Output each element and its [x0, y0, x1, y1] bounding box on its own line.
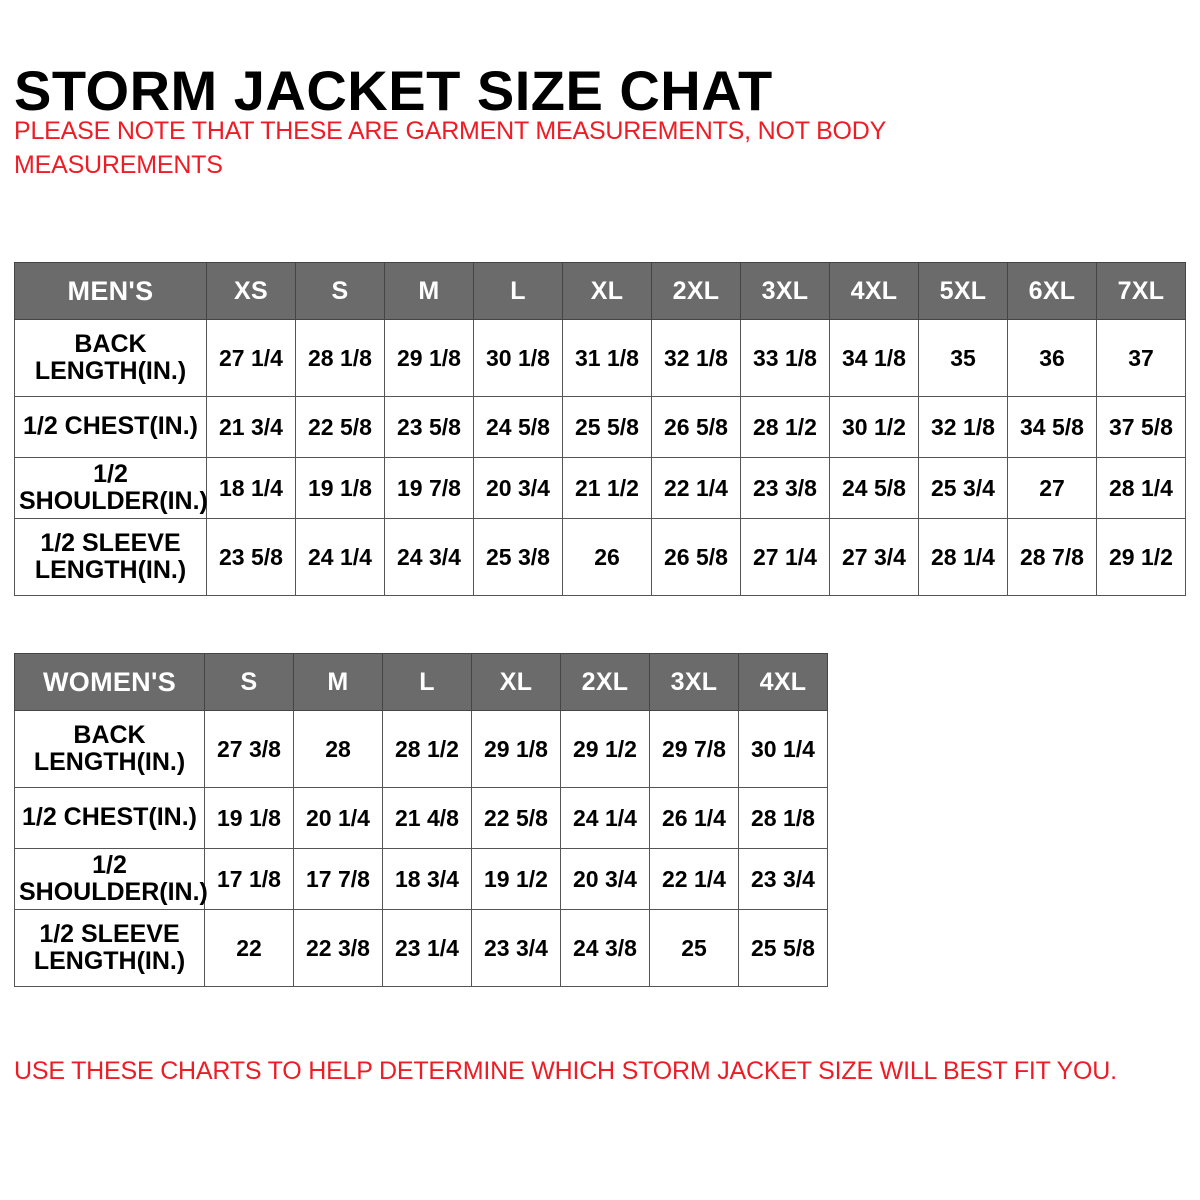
womens-back-length-3xl: 29 7/8 — [650, 711, 739, 788]
mens-col-header-m: M — [385, 263, 474, 320]
womens-shoulder-m: 17 7/8 — [294, 849, 383, 910]
mens-sleeve-line1: 1/2 SLEEVE — [19, 530, 202, 558]
womens-col-header-3xl: 3XL — [650, 654, 739, 711]
womens-table-body: BACK LENGTH(IN.) 27 3/8 28 28 1/2 29 1/8… — [15, 711, 828, 987]
womens-chest-4xl: 28 1/8 — [739, 788, 828, 849]
mens-shoulder-l: 20 3/4 — [474, 458, 563, 519]
mens-shoulder-xs: 18 1/4 — [207, 458, 296, 519]
mens-chest-3xl: 28 1/2 — [741, 397, 830, 458]
mens-sleeve-4xl: 27 3/4 — [830, 519, 919, 596]
mens-shoulder-m: 19 7/8 — [385, 458, 474, 519]
womens-col-header-s: S — [205, 654, 294, 711]
use-charts-note: USE THESE CHARTS TO HELP DETERMINE WHICH… — [14, 1055, 1154, 1088]
womens-row-label-shoulder: 1/2 SHOULDER(IN.) — [15, 849, 205, 910]
mens-back-length-line2: LENGTH(IN.) — [19, 358, 202, 386]
table-row: 1/2 SHOULDER(IN.) 18 1/4 19 1/8 19 7/8 2… — [15, 458, 1186, 519]
womens-row-label-chest: 1/2 CHEST(IN.) — [15, 788, 205, 849]
womens-sleeve-s: 22 — [205, 910, 294, 987]
womens-shoulder-s: 17 1/8 — [205, 849, 294, 910]
mens-row-label-back-length: BACK LENGTH(IN.) — [15, 320, 207, 397]
mens-sleeve-m: 24 3/4 — [385, 519, 474, 596]
womens-table-head: WOMEN'S S M L XL 2XL 3XL 4XL — [15, 654, 828, 711]
mens-back-length-s: 28 1/8 — [296, 320, 385, 397]
mens-size-table: MEN'S XS S M L XL 2XL 3XL 4XL 5XL 6XL 7X… — [14, 262, 1186, 596]
mens-row-label-shoulder: 1/2 SHOULDER(IN.) — [15, 458, 207, 519]
mens-back-length-6xl: 36 — [1008, 320, 1097, 397]
mens-table-head: MEN'S XS S M L XL 2XL 3XL 4XL 5XL 6XL 7X… — [15, 263, 1186, 320]
mens-back-length-line1: BACK — [19, 331, 202, 359]
mens-col-header-3xl: 3XL — [741, 263, 830, 320]
mens-back-length-5xl: 35 — [919, 320, 1008, 397]
mens-chest-4xl: 30 1/2 — [830, 397, 919, 458]
womens-corner-header: WOMEN'S — [15, 654, 205, 711]
mens-back-length-xl: 31 1/8 — [563, 320, 652, 397]
mens-shoulder-s: 19 1/8 — [296, 458, 385, 519]
mens-sleeve-l: 25 3/8 — [474, 519, 563, 596]
womens-col-header-xl: XL — [472, 654, 561, 711]
womens-sleeve-3xl: 25 — [650, 910, 739, 987]
mens-row-label-sleeve: 1/2 SLEEVE LENGTH(IN.) — [15, 519, 207, 596]
womens-chest-2xl: 24 1/4 — [561, 788, 650, 849]
mens-sleeve-xs: 23 5/8 — [207, 519, 296, 596]
womens-sleeve-4xl: 25 5/8 — [739, 910, 828, 987]
mens-shoulder-2xl: 22 1/4 — [652, 458, 741, 519]
mens-col-header-s: S — [296, 263, 385, 320]
mens-chest-s: 22 5/8 — [296, 397, 385, 458]
womens-row-label-back-length: BACK LENGTH(IN.) — [15, 711, 205, 788]
mens-back-length-l: 30 1/8 — [474, 320, 563, 397]
womens-shoulder-3xl: 22 1/4 — [650, 849, 739, 910]
womens-sleeve-m: 22 3/8 — [294, 910, 383, 987]
womens-back-length-s: 27 3/8 — [205, 711, 294, 788]
mens-sleeve-6xl: 28 7/8 — [1008, 519, 1097, 596]
table-row: 1/2 SHOULDER(IN.) 17 1/8 17 7/8 18 3/4 1… — [15, 849, 828, 910]
mens-sleeve-s: 24 1/4 — [296, 519, 385, 596]
womens-shoulder-l: 18 3/4 — [383, 849, 472, 910]
mens-chest-m: 23 5/8 — [385, 397, 474, 458]
womens-size-table: WOMEN'S S M L XL 2XL 3XL 4XL BACK LENGTH… — [14, 653, 828, 987]
mens-chest-l: 24 5/8 — [474, 397, 563, 458]
mens-sleeve-line2: LENGTH(IN.) — [19, 557, 202, 585]
womens-sleeve-line2: LENGTH(IN.) — [19, 948, 200, 976]
womens-shoulder-4xl: 23 3/4 — [739, 849, 828, 910]
womens-col-header-m: M — [294, 654, 383, 711]
mens-col-header-5xl: 5XL — [919, 263, 1008, 320]
mens-sleeve-5xl: 28 1/4 — [919, 519, 1008, 596]
womens-sleeve-line1: 1/2 SLEEVE — [19, 921, 200, 949]
womens-chest-l: 21 4/8 — [383, 788, 472, 849]
womens-col-header-4xl: 4XL — [739, 654, 828, 711]
womens-row-label-sleeve: 1/2 SLEEVE LENGTH(IN.) — [15, 910, 205, 987]
mens-header-row: MEN'S XS S M L XL 2XL 3XL 4XL 5XL 6XL 7X… — [15, 263, 1186, 320]
womens-back-length-2xl: 29 1/2 — [561, 711, 650, 788]
womens-col-header-l: L — [383, 654, 472, 711]
table-row: BACK LENGTH(IN.) 27 3/8 28 28 1/2 29 1/8… — [15, 711, 828, 788]
mens-chest-2xl: 26 5/8 — [652, 397, 741, 458]
mens-back-length-xs: 27 1/4 — [207, 320, 296, 397]
womens-sleeve-xl: 23 3/4 — [472, 910, 561, 987]
mens-back-length-4xl: 34 1/8 — [830, 320, 919, 397]
mens-col-header-7xl: 7XL — [1097, 263, 1186, 320]
mens-shoulder-xl: 21 1/2 — [563, 458, 652, 519]
mens-corner-header: MEN'S — [15, 263, 207, 320]
mens-shoulder-4xl: 24 5/8 — [830, 458, 919, 519]
womens-back-length-4xl: 30 1/4 — [739, 711, 828, 788]
mens-shoulder-3xl: 23 3/8 — [741, 458, 830, 519]
mens-back-length-2xl: 32 1/8 — [652, 320, 741, 397]
mens-col-header-6xl: 6XL — [1008, 263, 1097, 320]
garment-measurement-note: PLEASE NOTE THAT THESE ARE GARMENT MEASU… — [14, 115, 1014, 183]
mens-table-body: BACK LENGTH(IN.) 27 1/4 28 1/8 29 1/8 30… — [15, 320, 1186, 596]
mens-chest-7xl: 37 5/8 — [1097, 397, 1186, 458]
mens-col-header-xs: XS — [207, 263, 296, 320]
womens-chest-3xl: 26 1/4 — [650, 788, 739, 849]
mens-col-header-l: L — [474, 263, 563, 320]
mens-shoulder-7xl: 28 1/4 — [1097, 458, 1186, 519]
womens-shoulder-2xl: 20 3/4 — [561, 849, 650, 910]
womens-chest-m: 20 1/4 — [294, 788, 383, 849]
mens-sleeve-7xl: 29 1/2 — [1097, 519, 1186, 596]
size-chart-page: STORM JACKET SIZE CHAT PLEASE NOTE THAT … — [0, 0, 1200, 1200]
womens-back-length-xl: 29 1/8 — [472, 711, 561, 788]
table-row: 1/2 SLEEVE LENGTH(IN.) 22 22 3/8 23 1/4 … — [15, 910, 828, 987]
page-title: STORM JACKET SIZE CHAT — [14, 62, 773, 121]
mens-chest-6xl: 34 5/8 — [1008, 397, 1097, 458]
womens-col-header-2xl: 2XL — [561, 654, 650, 711]
mens-col-header-4xl: 4XL — [830, 263, 919, 320]
womens-sleeve-l: 23 1/4 — [383, 910, 472, 987]
womens-back-length-m: 28 — [294, 711, 383, 788]
table-row: 1/2 SLEEVE LENGTH(IN.) 23 5/8 24 1/4 24 … — [15, 519, 1186, 596]
womens-back-length-line1: BACK — [19, 722, 200, 750]
womens-sleeve-2xl: 24 3/8 — [561, 910, 650, 987]
table-row: 1/2 CHEST(IN.) 21 3/4 22 5/8 23 5/8 24 5… — [15, 397, 1186, 458]
mens-row-label-chest: 1/2 CHEST(IN.) — [15, 397, 207, 458]
mens-shoulder-5xl: 25 3/4 — [919, 458, 1008, 519]
mens-back-length-m: 29 1/8 — [385, 320, 474, 397]
womens-back-length-line2: LENGTH(IN.) — [19, 749, 200, 777]
mens-col-header-xl: XL — [563, 263, 652, 320]
mens-chest-xs: 21 3/4 — [207, 397, 296, 458]
womens-chest-xl: 22 5/8 — [472, 788, 561, 849]
mens-chest-5xl: 32 1/8 — [919, 397, 1008, 458]
womens-header-row: WOMEN'S S M L XL 2XL 3XL 4XL — [15, 654, 828, 711]
mens-chest-xl: 25 5/8 — [563, 397, 652, 458]
womens-back-length-l: 28 1/2 — [383, 711, 472, 788]
mens-sleeve-xl: 26 — [563, 519, 652, 596]
mens-shoulder-6xl: 27 — [1008, 458, 1097, 519]
womens-shoulder-xl: 19 1/2 — [472, 849, 561, 910]
mens-sleeve-3xl: 27 1/4 — [741, 519, 830, 596]
mens-back-length-3xl: 33 1/8 — [741, 320, 830, 397]
mens-back-length-7xl: 37 — [1097, 320, 1186, 397]
womens-chest-s: 19 1/8 — [205, 788, 294, 849]
table-row: BACK LENGTH(IN.) 27 1/4 28 1/8 29 1/8 30… — [15, 320, 1186, 397]
mens-col-header-2xl: 2XL — [652, 263, 741, 320]
mens-sleeve-2xl: 26 5/8 — [652, 519, 741, 596]
table-row: 1/2 CHEST(IN.) 19 1/8 20 1/4 21 4/8 22 5… — [15, 788, 828, 849]
